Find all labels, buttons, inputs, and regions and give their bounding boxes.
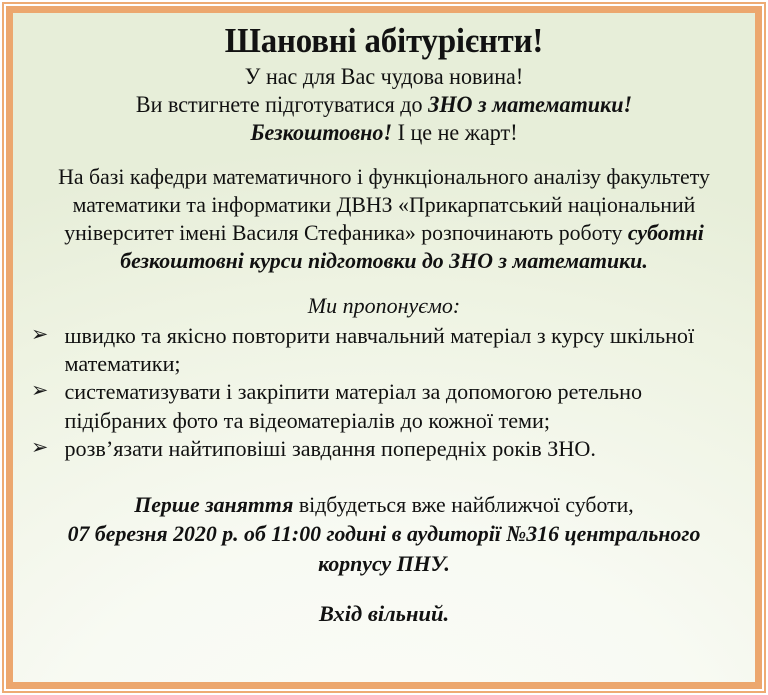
list-item-label: систематизувати і закріпити матеріал за … bbox=[64, 379, 642, 432]
list-item: ➢ систематизувати і закріпити матеріал з… bbox=[29, 378, 728, 435]
body-paragraph-plain: На базі кафедри математичного і функціон… bbox=[58, 164, 710, 245]
closing-emphasis-1: Перше заняття bbox=[134, 492, 293, 517]
list-item: ➢ швидко та якісно повторити навчальний … bbox=[29, 322, 728, 379]
lead-line-1: У нас для Вас чудова новина! bbox=[245, 64, 523, 89]
lead-line-2-plain: Ви встигнете підготуватися до bbox=[136, 92, 428, 117]
lead-line-2-emphasis: ЗНО з математики! bbox=[428, 92, 632, 117]
lead-line-3-emphasis: Безкоштовно! bbox=[250, 120, 392, 145]
poster-content: Шановні абітурієнти! У нас для Вас чудов… bbox=[13, 13, 755, 682]
arrow-bullet-icon: ➢ bbox=[31, 321, 48, 347]
list-item: ➢ розв’язати найтиповіші завдання попере… bbox=[29, 435, 728, 463]
body-paragraph: На базі кафедри математичного і функціон… bbox=[40, 163, 729, 276]
entry-free-note: Вхід вільний. bbox=[29, 601, 739, 627]
lead-paragraph: У нас для Вас чудова новина! Ви встигнет… bbox=[43, 63, 725, 147]
closing-paragraph: Перше заняття відбудеться вже найближчої… bbox=[40, 490, 729, 579]
offer-list: ➢ швидко та якісно повторити навчальний … bbox=[29, 322, 739, 464]
announcement-poster: Шановні абітурієнти! У нас для Вас чудов… bbox=[0, 0, 768, 695]
closing-emphasis-2: 07 березня 2020 р. об 11:00 годині в ауд… bbox=[68, 521, 701, 576]
list-item-label: швидко та якісно повторити навчальний ма… bbox=[64, 323, 694, 376]
arrow-bullet-icon: ➢ bbox=[31, 377, 48, 403]
offer-heading: Ми пропонуємо: bbox=[29, 293, 739, 319]
page-title: Шановні абітурієнти! bbox=[50, 23, 717, 60]
list-item-label: розв’язати найтиповіші завдання попередн… bbox=[64, 436, 595, 461]
closing-plain-1: відбудеться вже найближчої суботи, bbox=[293, 492, 633, 517]
arrow-bullet-icon: ➢ bbox=[31, 434, 48, 460]
lead-line-3-plain: І це не жарт! bbox=[392, 120, 517, 145]
